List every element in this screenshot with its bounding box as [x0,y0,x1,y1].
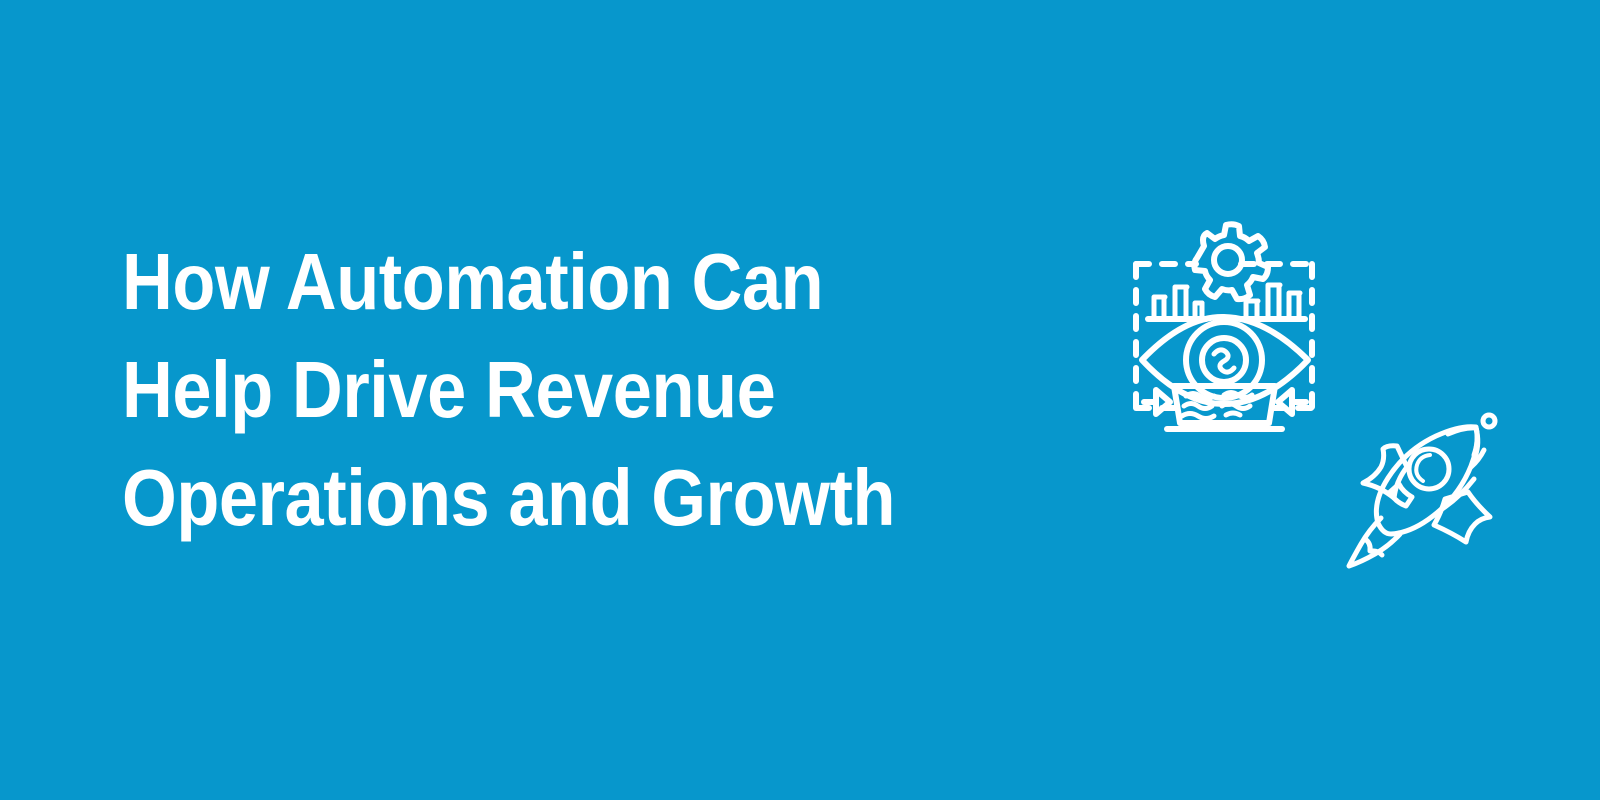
automation-insight-illustration [1120,208,1330,448]
shutter-icon [1214,350,1234,372]
bar-chart-left-icon [1148,287,1206,319]
headline-line-2: Help Drive Revenue [122,336,967,444]
page-title: How Automation Can Help Drive Revenue Op… [122,228,1082,552]
headline-line-1: How Automation Can [122,228,967,336]
rocket-spark-dot [1483,415,1495,427]
headline-line-3: Operations and Growth [122,444,967,552]
rocket-fin-right-icon [1434,492,1490,542]
rocket-porthole-icon [1409,449,1449,489]
rocket-nose-cone [1448,428,1478,457]
rocket-flame-icon [1349,518,1400,566]
rocket-body [1376,427,1477,534]
banner-canvas: How Automation Can Help Drive Revenue Op… [0,0,1600,800]
rocket-illustration [1345,405,1505,565]
gear-icon [1194,224,1268,299]
